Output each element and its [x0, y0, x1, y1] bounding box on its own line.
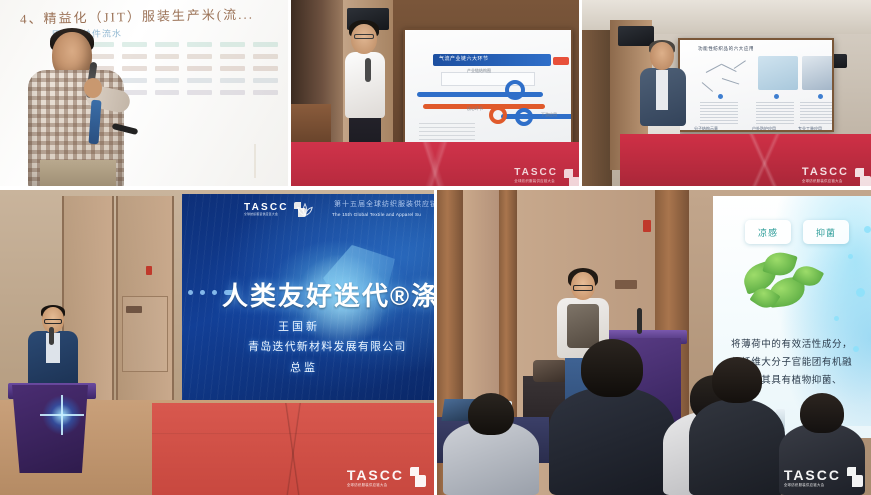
slide-caption-top: 产业链结构图 [467, 68, 491, 74]
photo-panel-timeline-slide-talk[interactable]: 气流产业链六大环节 产业链结构图 核心环节 下游应用 [291, 0, 579, 186]
tascc-watermark: TASCC 全球纺织服装供应链大会 [802, 167, 867, 183]
speaker-head [650, 42, 674, 70]
wall-sign [615, 280, 637, 289]
slide-image-card-1 [758, 56, 798, 90]
slide-caption-right: 下游应用 [541, 112, 557, 118]
backdrop-main-title: 人类友好迭代®涤 [222, 276, 434, 313]
tascc-logo-subtitle: 全球纺织服装供应链大会 [514, 178, 558, 183]
tascc-logo-text: TASCC [347, 468, 404, 482]
audience-head [581, 339, 643, 397]
tascc-watermark: TASCC 全球纺织服装供应链大会 [347, 467, 426, 487]
step-dot-3 [818, 94, 823, 99]
fire-alarm-icon [146, 266, 152, 275]
slide-paragraph-3 [800, 102, 834, 124]
microphone-icon [365, 58, 371, 82]
backdrop-speaker-role: 总监 [290, 359, 318, 375]
backdrop-event-cn-title: 第十五届全球纺织服装供应链大会 [334, 199, 434, 209]
slide-paragraph-1 [700, 102, 738, 124]
tascc-logo-subtitle: 全球纺织服装供应链大会 [784, 482, 841, 487]
tascc-logo-text: TASCC [802, 167, 849, 178]
audience-head [800, 393, 844, 433]
speaker-shirt [656, 70, 668, 110]
tascc-mark-icon [410, 467, 426, 487]
tascc-mark-icon [847, 467, 863, 487]
lotus-icon [294, 202, 316, 220]
slide-image-card-2 [802, 56, 834, 90]
badge-cooling: 凉感 [745, 220, 791, 244]
side-wall-dark [582, 30, 612, 186]
speaker-trousers [40, 160, 116, 186]
microphone-icon [49, 327, 54, 345]
tascc-logo-subtitle: 全球纺织服装供应链大会 [244, 213, 289, 216]
timeline-ring-blue-2 [515, 108, 533, 126]
microphone-icon [637, 308, 642, 334]
tascc-logo-subtitle: 全球纺织服装供应链大会 [802, 178, 849, 183]
photo-panel-blue-backdrop-podium[interactable]: TASCC 全球纺织服装供应链大会 第十五届全球纺织服装供应链大会 The 15… [0, 190, 434, 495]
slide-header-text: 气流产业链六大环节 [439, 55, 489, 62]
glasses-icon [354, 34, 374, 39]
tascc-logo-subtitle: 全球纺织服装供应链大会 [347, 482, 404, 487]
slide-caption-2: 户外防护应用 [752, 126, 776, 132]
slide-caption-mid: 核心环节 [467, 106, 483, 112]
audience-head [468, 393, 514, 435]
mint-leaves-graphic [739, 250, 829, 316]
tascc-logo-text: TASCC [514, 168, 558, 178]
slide-caption-3: 专业工装应用 [798, 126, 822, 132]
step-dot-1 [718, 94, 723, 99]
timeline-line-blue-2 [501, 114, 573, 119]
timeline-ring-blue-1 [505, 80, 525, 100]
slide-body-line-1: 将薄荷中的有效活性成分， [731, 336, 871, 354]
glasses-icon [44, 319, 62, 324]
timeline-ring-orange [489, 106, 507, 124]
slide-paragraph-2 [756, 102, 794, 124]
fire-alarm-icon [643, 220, 651, 232]
glasses-icon [573, 285, 593, 291]
slide-caption-1: 分子结构示意 [694, 126, 718, 132]
audience-member [443, 421, 539, 495]
backdrop-speaker-company: 青岛迭代新材料发展有限公司 [248, 338, 407, 354]
slide-title: 功能性纺织品的六大应用 [698, 46, 754, 52]
tascc-logo-text: TASCC [784, 468, 841, 482]
podium [12, 385, 88, 473]
audience-member [689, 399, 785, 495]
presentation-screen: 气流产业链六大环节 产业链结构图 核心环节 下游应用 [403, 28, 573, 144]
molecule-diagram-icon [700, 58, 752, 96]
slide-feature-badges: 凉感 抑菌 [745, 220, 849, 244]
backdrop-event-en-title: The 15th Global Textile and Apparel Su [332, 212, 421, 217]
whiteboard-heading: 4、精益化（JIT）服装生产米(流... [20, 4, 254, 28]
backdrop-speaker-name: 王国新 [278, 318, 320, 334]
speaker-hand [84, 78, 102, 98]
photo-panel-whiteboard-lecture[interactable]: 4、精益化（JIT）服装生产米(流... 固注式单件流水 [0, 0, 288, 186]
slide-badge [553, 57, 569, 65]
collage-row-bottom: TASCC 全球纺织服装供应链大会 第十五届全球纺织服装供应链大会 The 15… [0, 190, 871, 495]
speaker-vest [567, 304, 599, 348]
tascc-mark-icon [564, 169, 575, 183]
door-sign [126, 306, 142, 313]
badge-antibacterial: 抑菌 [803, 220, 849, 244]
tascc-watermark: TASCC 全球纺织服装供应链大会 [784, 467, 863, 487]
podium-star-graphic [42, 395, 82, 435]
speaker-figure [26, 307, 78, 391]
whiteboard-watermark [254, 144, 280, 178]
presentation-screen: 功能性纺织品的六大应用 分子结构示意 户外防护应用 专业工装应 [678, 38, 834, 132]
photo-panel-mint-slide-audience[interactable]: 凉感 抑菌 将薄荷中的有效活性成分， 与纤维大分子官能团有机融 合，使其具有植物… [437, 190, 871, 495]
tascc-watermark: TASCC 全球纺织服装供应链大会 [514, 168, 575, 183]
collage-row-top: 4、精益化（JIT）服装生产米(流... 固注式单件流水 [0, 0, 871, 186]
speaker-head [351, 24, 377, 54]
event-backdrop: TASCC 全球纺织服装供应链大会 第十五届全球纺织服装供应链大会 The 15… [182, 194, 434, 406]
audience-member [549, 387, 675, 495]
audience-head [712, 357, 762, 403]
photo-collage: 4、精益化（JIT）服装生产米(流... 固注式单件流水 [0, 0, 871, 495]
tascc-mark-icon [855, 168, 867, 183]
photo-panel-product-slide-talk[interactable]: 功能性纺织品的六大应用 分子结构示意 户外防护应用 专业工装应 [582, 0, 871, 186]
slide-paragraph [419, 122, 475, 140]
step-dot-2 [774, 94, 779, 99]
